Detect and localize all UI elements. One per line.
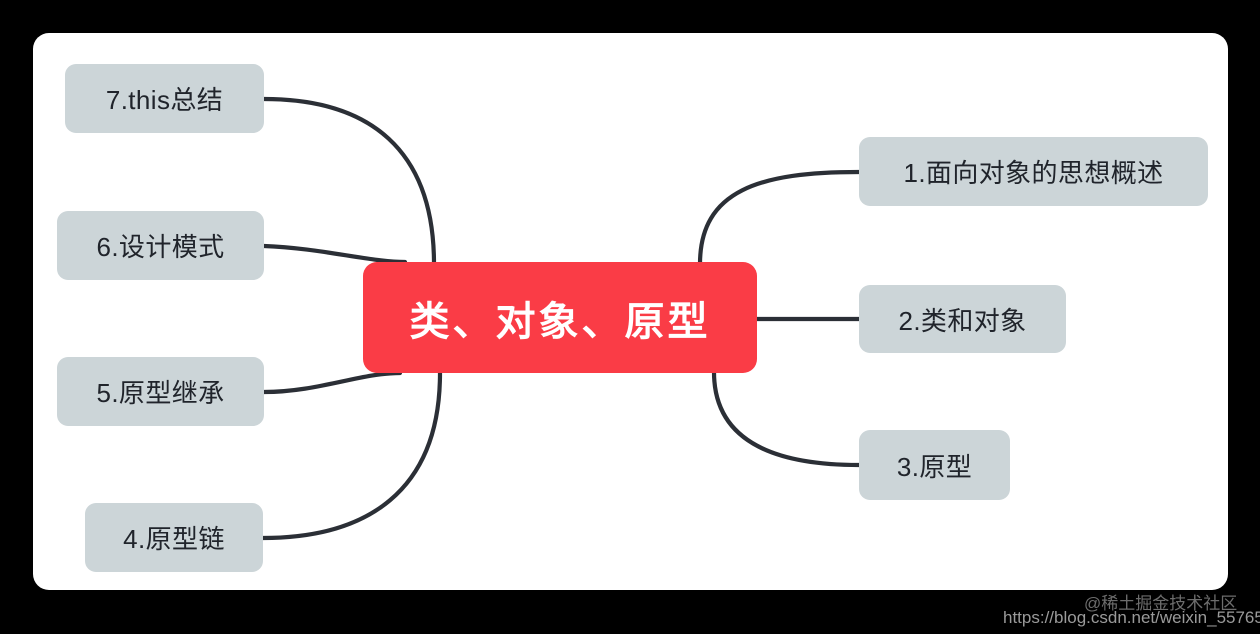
- branch-node-6[interactable]: 6.设计模式: [57, 211, 264, 280]
- branch-node-4[interactable]: 4.原型链: [85, 503, 263, 572]
- branch-node-7[interactable]: 7.this总结: [65, 64, 264, 133]
- branch-node-3[interactable]: 3.原型: [859, 430, 1010, 500]
- central-node[interactable]: 类、对象、原型: [363, 262, 757, 373]
- watermark-url: https://blog.csdn.net/weixin_55765992: [1003, 608, 1260, 628]
- branch-node-2[interactable]: 2.类和对象: [859, 285, 1066, 353]
- branch-node-5[interactable]: 5.原型继承: [57, 357, 264, 426]
- branch-node-1[interactable]: 1.面向对象的思想概述: [859, 137, 1208, 206]
- screenshot-root: 类、对象、原型 1.面向对象的思想概述 2.类和对象 3.原型 7.this总结…: [0, 0, 1260, 634]
